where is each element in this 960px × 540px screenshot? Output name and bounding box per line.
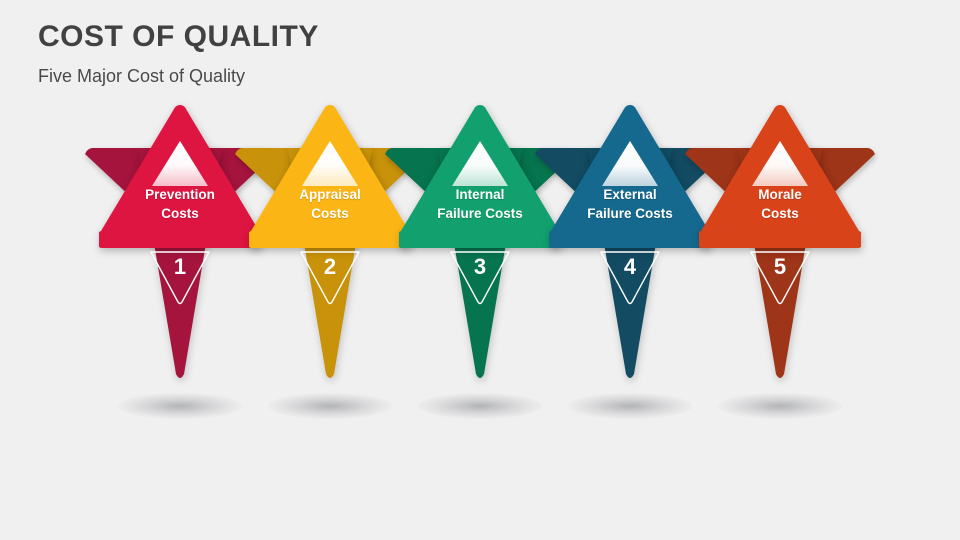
step-number: 5 xyxy=(748,256,812,278)
cone-label: InternalFailure Costs xyxy=(405,186,555,223)
step-number-badge[interactable]: 3 xyxy=(448,250,512,306)
cone-label-line1: External xyxy=(555,186,705,205)
ground-shadow xyxy=(118,393,242,419)
cone-label-line2: Costs xyxy=(255,205,405,224)
cone-label-line2: Failure Costs xyxy=(405,205,555,224)
step-number-badge[interactable]: 2 xyxy=(298,250,362,306)
step-number: 1 xyxy=(148,256,212,278)
ground-shadow xyxy=(268,393,392,419)
cone-label: PreventionCosts xyxy=(105,186,255,223)
slide-header: COST OF QUALITY Five Major Cost of Quali… xyxy=(38,18,638,88)
white-triangle-icon xyxy=(601,140,659,187)
cone-label-line1: Morale xyxy=(705,186,855,205)
cone-label-line2: Costs xyxy=(705,205,855,224)
cone-label: MoraleCosts xyxy=(705,186,855,223)
cone-label: ExternalFailure Costs xyxy=(555,186,705,223)
step-number-badge[interactable]: 5 xyxy=(748,250,812,306)
cone-item-5[interactable]: MoraleCosts5 xyxy=(680,100,880,430)
cone-label-line1: Prevention xyxy=(105,186,255,205)
page-subtitle: Five Major Cost of Quality xyxy=(38,65,638,88)
cone-label-line1: Appraisal xyxy=(255,186,405,205)
cone-label-line2: Costs xyxy=(105,205,255,224)
ground-shadow xyxy=(418,393,542,419)
page-title: COST OF QUALITY xyxy=(38,18,638,56)
step-number: 2 xyxy=(298,256,362,278)
step-number-badge[interactable]: 4 xyxy=(598,250,662,306)
cone-label-line2: Failure Costs xyxy=(555,205,705,224)
step-number: 3 xyxy=(448,256,512,278)
white-triangle-icon xyxy=(151,140,209,187)
ground-shadow xyxy=(718,393,842,419)
cone-label-line1: Internal xyxy=(405,186,555,205)
cost-of-quality-diagram: PreventionCosts1AppraisalCosts2InternalF… xyxy=(0,100,960,440)
cone-label: AppraisalCosts xyxy=(255,186,405,223)
white-triangle-icon xyxy=(301,140,359,187)
step-number-badge[interactable]: 1 xyxy=(148,250,212,306)
ground-shadow xyxy=(568,393,692,419)
white-triangle-icon xyxy=(751,140,809,187)
step-number: 4 xyxy=(598,256,662,278)
white-triangle-icon xyxy=(451,140,509,187)
